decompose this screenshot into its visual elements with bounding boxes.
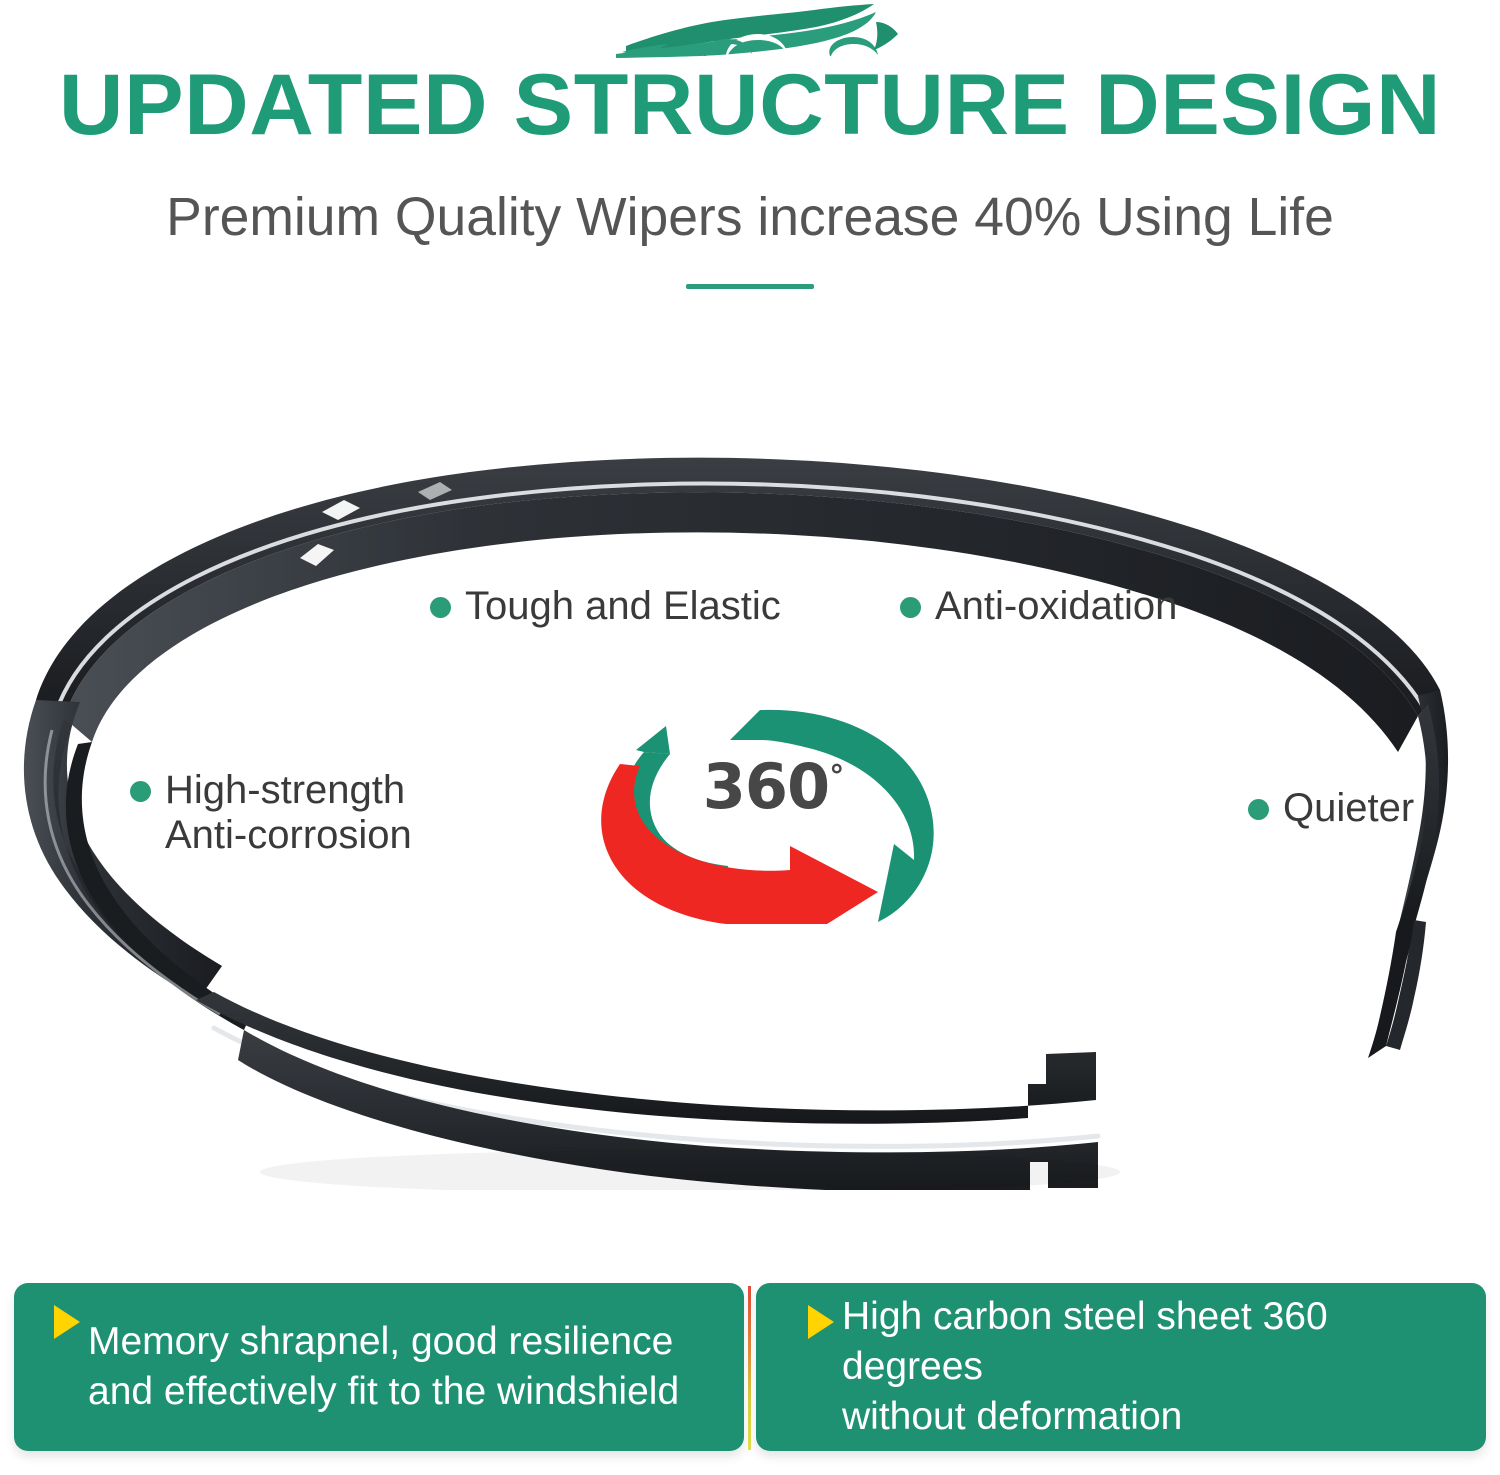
- feature-label: Quieter: [1283, 786, 1414, 831]
- bullet-dot-icon: [1248, 799, 1269, 820]
- feature-quieter: Quieter: [1248, 786, 1414, 831]
- product-feature-page: UPDATED STRUCTURE DESIGN Premium Quality…: [0, 0, 1500, 1475]
- triangle-arrow-icon: [54, 1305, 80, 1339]
- badge-360-degrees: 360°: [578, 694, 968, 924]
- car-silhouette-icon: [608, 2, 908, 64]
- banner-text-line2: and effectively fit to the windshield: [88, 1367, 679, 1417]
- bullet-dot-icon: [130, 781, 151, 802]
- bullet-dot-icon: [900, 597, 921, 618]
- banner-text-line1: High carbon steel sheet 360 degrees: [842, 1295, 1328, 1388]
- feature-high-strength-anti-corrosion: High-strength Anti-corrosion: [130, 768, 412, 858]
- feature-label-line1: High-strength: [165, 768, 405, 812]
- banner-text: Memory shrapnel, good resilience and eff…: [88, 1317, 679, 1417]
- feature-tough-and-elastic: Tough and Elastic: [430, 584, 781, 629]
- banner-text: High carbon steel sheet 360 degrees with…: [842, 1292, 1462, 1442]
- banner-divider: [748, 1286, 751, 1450]
- feature-label-line2: Anti-corrosion: [165, 813, 412, 858]
- feature-label: High-strength Anti-corrosion: [165, 768, 412, 858]
- triangle-arrow-icon: [808, 1305, 834, 1339]
- badge-360-value: 360°: [578, 750, 968, 823]
- feature-anti-oxidation: Anti-oxidation: [900, 584, 1177, 629]
- title-accent-rule: [686, 284, 814, 289]
- page-subtitle: Premium Quality Wipers increase 40% Usin…: [8, 186, 1493, 248]
- bullet-dot-icon: [430, 597, 451, 618]
- feature-label: Anti-oxidation: [935, 584, 1177, 629]
- banner-high-carbon-steel: High carbon steel sheet 360 degrees with…: [756, 1283, 1486, 1451]
- feature-label: Tough and Elastic: [465, 584, 781, 629]
- banner-text-line1: Memory shrapnel, good resilience: [88, 1320, 673, 1363]
- banner-memory-shrapnel: Memory shrapnel, good resilience and eff…: [14, 1283, 744, 1451]
- page-title: UPDATED STRUCTURE DESIGN: [0, 62, 1500, 148]
- banner-text-line2: without deformation: [842, 1392, 1462, 1442]
